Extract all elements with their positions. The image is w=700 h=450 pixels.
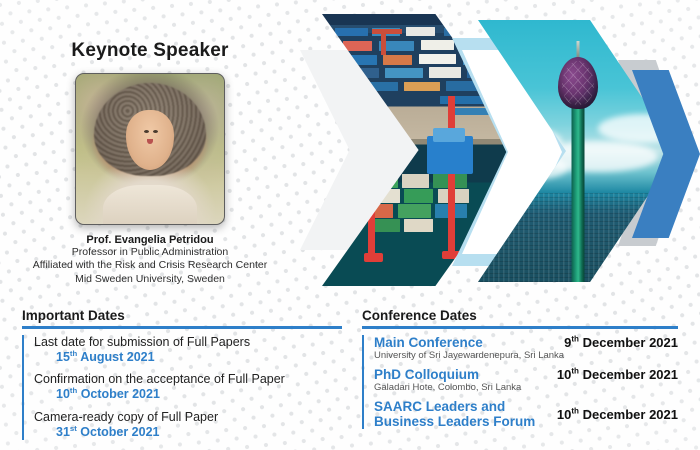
speaker-affiliation: Affiliated with the Risk and Crisis Rese… xyxy=(0,259,300,272)
date-ordinal: th xyxy=(571,367,579,376)
date-day: 10 xyxy=(557,367,571,382)
important-dates-rule xyxy=(22,326,342,329)
date-ordinal: st xyxy=(70,423,77,432)
keynote-speaker-block: Keynote Speaker Prof. Evangelia Petridou… xyxy=(0,40,300,286)
conference-row: PhD Colloquium 10th December 2021 xyxy=(374,367,678,382)
tower-spire xyxy=(577,41,580,57)
portrait-smile xyxy=(147,139,153,144)
speaker-portrait-image xyxy=(76,74,224,224)
date-rest: October 2021 xyxy=(77,425,160,439)
list-item: PhD Colloquium 10th December 2021 Galada… xyxy=(374,367,678,394)
conference-dates-list: Main Conference 9th December 2021 Univer… xyxy=(362,335,678,429)
date-rest: August 2021 xyxy=(77,350,154,364)
keynote-title: Keynote Speaker xyxy=(0,40,300,62)
list-item: Camera-ready copy of Full Paper 31st Oct… xyxy=(34,410,342,440)
list-item: Confirmation on the acceptance of Full P… xyxy=(34,372,342,402)
important-dates-section: Important Dates Last date for submission… xyxy=(22,308,342,440)
list-item: Main Conference 9th December 2021 Univer… xyxy=(374,335,678,362)
date-day: 10 xyxy=(56,387,70,401)
date-rest: December 2021 xyxy=(579,335,678,350)
date-ordinal: th xyxy=(571,335,579,344)
date-ordinal: th xyxy=(571,406,579,415)
conference-dates-rule xyxy=(362,326,678,329)
conference-dates-section: Conference Dates Main Conference 9th Dec… xyxy=(362,308,678,429)
date-day: 15 xyxy=(56,350,70,364)
conference-name: SAARC Leaders and Business Leaders Forum xyxy=(374,399,550,429)
important-dates-list: Last date for submission of Full Papers … xyxy=(22,335,342,440)
conference-row: SAARC Leaders and Business Leaders Forum… xyxy=(374,399,678,429)
portrait-eye-right xyxy=(153,130,158,133)
conference-dates-title: Conference Dates xyxy=(362,308,678,323)
portrait-eye-left xyxy=(144,130,149,133)
important-date-value: 10th October 2021 xyxy=(56,387,342,403)
date-day: 10 xyxy=(557,407,571,422)
tower-bulb xyxy=(558,57,598,109)
date-day: 31 xyxy=(56,425,70,439)
date-rest: October 2021 xyxy=(77,387,160,401)
conference-date: 9th December 2021 xyxy=(564,335,678,350)
conference-name: PhD Colloquium xyxy=(374,367,479,382)
conference-poster: Keynote Speaker Prof. Evangelia Petridou… xyxy=(0,0,700,450)
list-item: SAARC Leaders and Business Leaders Forum… xyxy=(374,399,678,429)
conference-name: Main Conference xyxy=(374,335,483,350)
chevron-image-collage xyxy=(300,8,700,298)
speaker-portrait xyxy=(75,73,225,225)
important-date-value: 31st October 2021 xyxy=(56,425,342,441)
list-item: Last date for submission of Full Papers … xyxy=(34,335,342,365)
important-date-label: Camera-ready copy of Full Paper xyxy=(34,410,342,425)
conference-venue: Galadari Hote, Colombo, Sri Lanka xyxy=(374,382,678,394)
conference-venue: University of Sri Jayewardenepura, Sri L… xyxy=(374,350,678,362)
important-date-label: Last date for submission of Full Papers xyxy=(34,335,342,350)
important-date-label: Confirmation on the acceptance of Full P… xyxy=(34,372,342,387)
speaker-name: Prof. Evangelia Petridou xyxy=(0,234,300,246)
conference-date: 10th December 2021 xyxy=(557,407,678,422)
conference-row: Main Conference 9th December 2021 xyxy=(374,335,678,350)
date-rest: December 2021 xyxy=(579,367,678,382)
important-dates-title: Important Dates xyxy=(22,308,342,323)
speaker-role: Professor in Public Administration xyxy=(0,246,300,259)
date-rest: December 2021 xyxy=(579,407,678,422)
conference-date: 10th December 2021 xyxy=(557,367,678,382)
speaker-university: Mid Sweden University, Sweden xyxy=(0,273,300,286)
tower-shaft xyxy=(572,99,585,282)
important-date-value: 15th August 2021 xyxy=(56,350,342,366)
portrait-shirt xyxy=(103,185,198,224)
